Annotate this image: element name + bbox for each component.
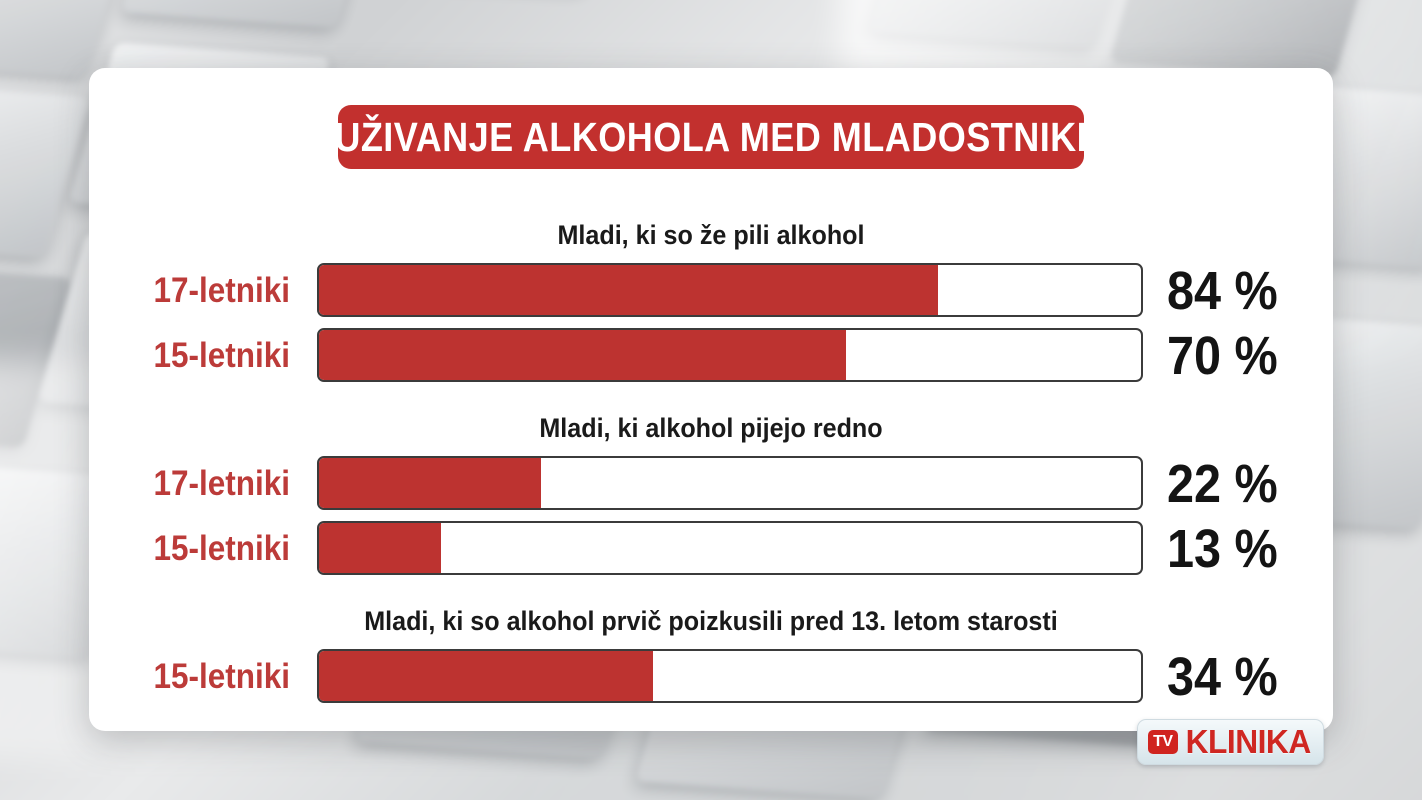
bar-fill bbox=[318, 329, 846, 381]
bar-value-label: 70 % bbox=[1167, 325, 1278, 387]
chart-group-1: Mladi, ki so že pili alkohol 17-letniki … bbox=[89, 220, 1333, 384]
bar-row: 15-letniki 70 % bbox=[89, 328, 1333, 384]
bar-track bbox=[317, 263, 1143, 317]
bar-value-label: 13 % bbox=[1167, 518, 1278, 580]
bar-track bbox=[317, 521, 1143, 575]
group-title: Mladi, ki alkohol pijejo redno bbox=[133, 413, 1290, 444]
page-title: UŽIVANJE ALKOHOLA MED MLADOSTNIKI bbox=[335, 114, 1088, 161]
bar-value-label: 22 % bbox=[1167, 453, 1278, 515]
bar-category-label: 15-letniki bbox=[109, 529, 290, 569]
bar-fill bbox=[318, 650, 653, 702]
chart-group-2: Mladi, ki alkohol pijejo redno 17-letnik… bbox=[89, 413, 1333, 577]
bar-track bbox=[317, 456, 1143, 510]
bar-fill bbox=[318, 522, 441, 574]
bar-fill bbox=[318, 264, 938, 316]
tv-klinika-logo: TV KLINIKA bbox=[1137, 719, 1324, 765]
tv-badge-icon: TV bbox=[1148, 730, 1178, 754]
bar-value-label: 34 % bbox=[1167, 646, 1278, 708]
bar-row: 17-letniki 22 % bbox=[89, 456, 1333, 512]
chart-group-3: Mladi, ki so alkohol prvič poizkusili pr… bbox=[89, 606, 1333, 705]
content-card: UŽIVANJE ALKOHOLA MED MLADOSTNIKI Mladi,… bbox=[89, 68, 1333, 731]
bar-row: 17-letniki 84 % bbox=[89, 263, 1333, 319]
bar-category-label: 15-letniki bbox=[109, 336, 290, 376]
bar-track bbox=[317, 649, 1143, 703]
chart-title-banner: UŽIVANJE ALKOHOLA MED MLADOSTNIKI bbox=[338, 105, 1084, 169]
infographic-stage: UŽIVANJE ALKOHOLA MED MLADOSTNIKI Mladi,… bbox=[0, 0, 1422, 800]
logo-wordmark: KLINIKA bbox=[1185, 723, 1310, 761]
bar-track bbox=[317, 328, 1143, 382]
bar-category-label: 17-letniki bbox=[109, 464, 290, 504]
bar-fill bbox=[318, 457, 541, 509]
group-title: Mladi, ki so že pili alkohol bbox=[133, 220, 1290, 251]
group-title: Mladi, ki so alkohol prvič poizkusili pr… bbox=[133, 606, 1290, 637]
bar-category-label: 17-letniki bbox=[109, 271, 290, 311]
bar-value-label: 84 % bbox=[1167, 260, 1278, 322]
bar-category-label: 15-letniki bbox=[109, 657, 290, 697]
bar-row: 15-letniki 34 % bbox=[89, 649, 1333, 705]
bar-row: 15-letniki 13 % bbox=[89, 521, 1333, 577]
